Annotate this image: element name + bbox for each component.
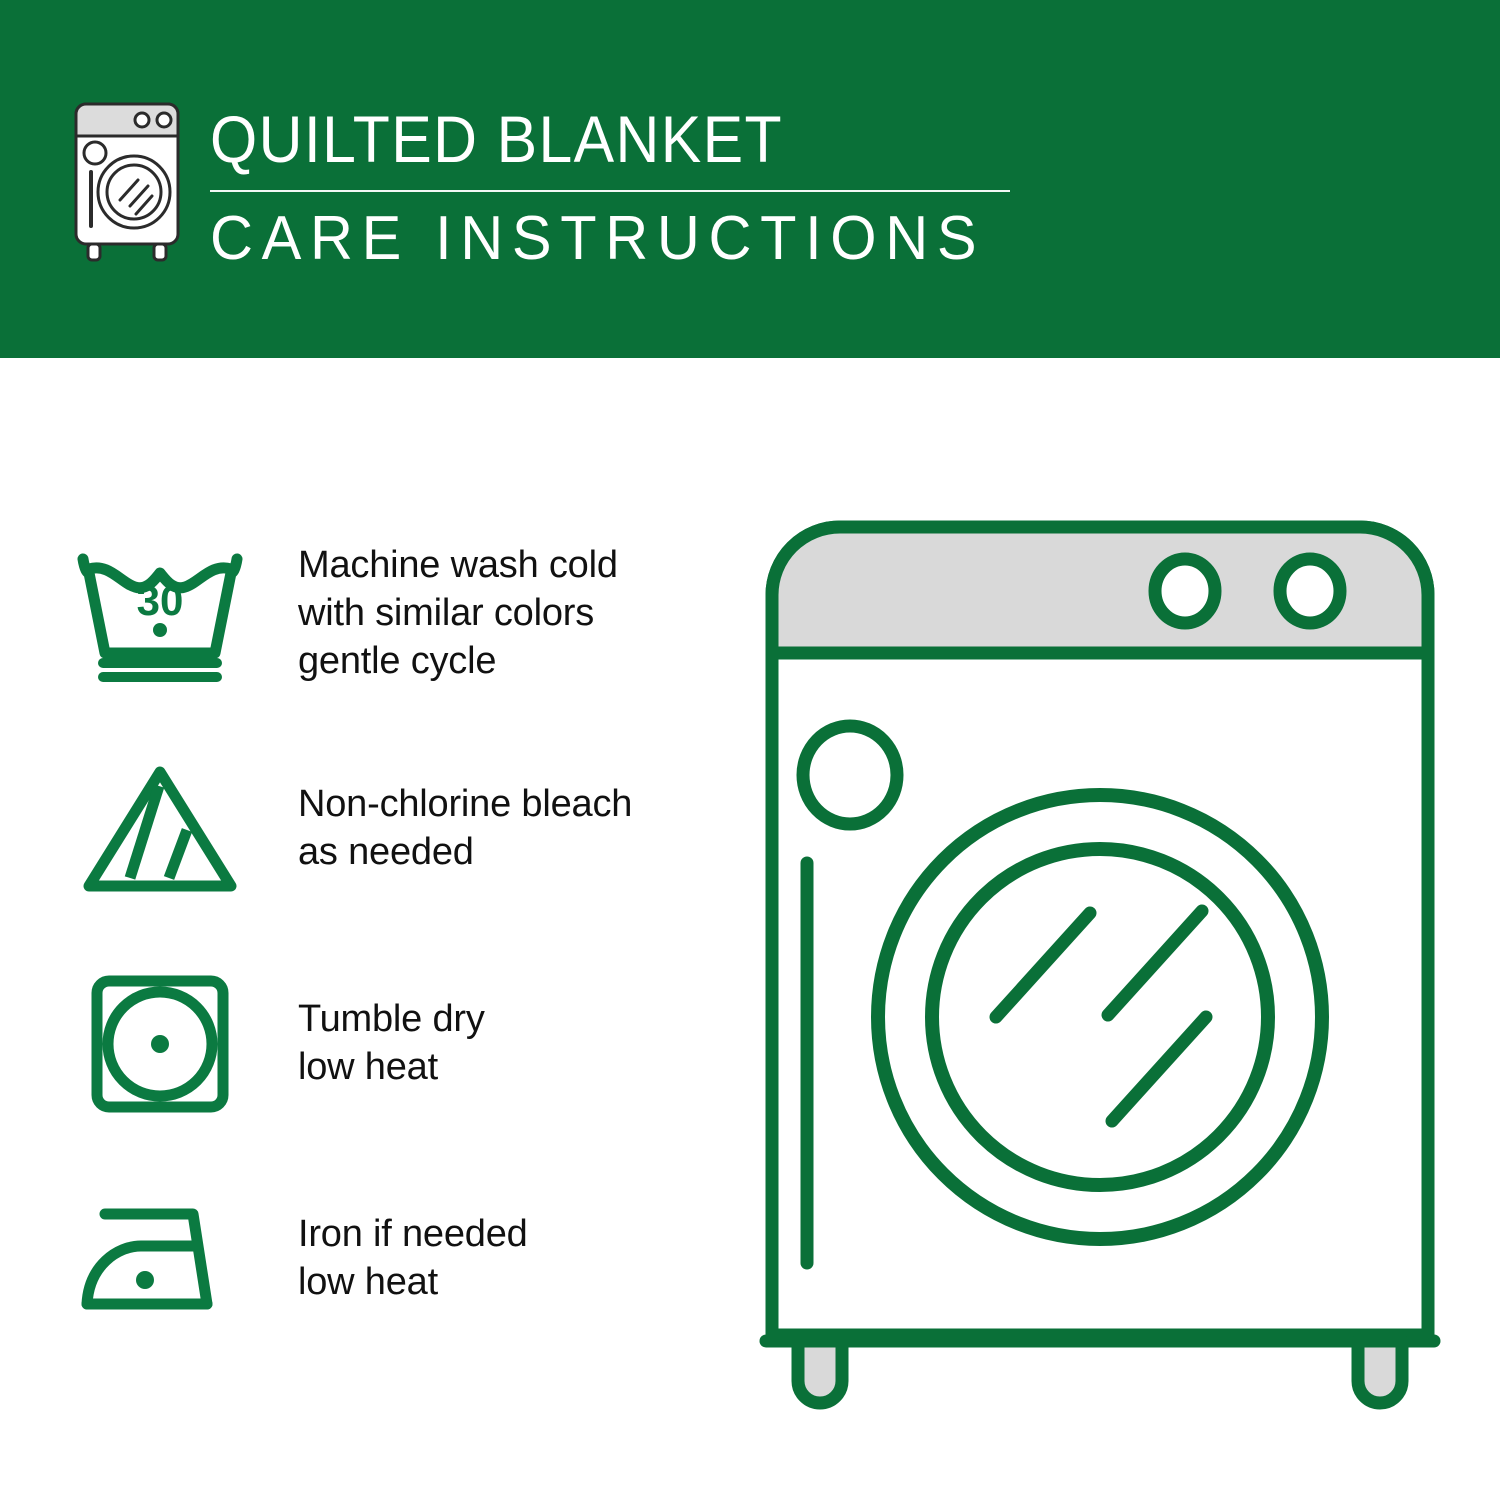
leg-left <box>798 1341 842 1403</box>
wash-temperature-value: 30 <box>137 577 184 624</box>
care-instruction-text: Non-chlorine bleach as needed <box>250 780 710 876</box>
header-banner: QUILTED BLANKET CARE INSTRUCTIONS <box>0 0 1500 358</box>
washing-machine-icon <box>62 96 192 266</box>
care-instructions-list: 30 Machine wash cold with similar colors… <box>70 505 710 1365</box>
care-row: 30 Machine wash cold with similar colors… <box>70 505 710 720</box>
knob-right <box>1280 559 1340 623</box>
care-row: Tumble dry low heat <box>70 935 710 1150</box>
leg-right <box>1358 1341 1402 1403</box>
front-load-washing-machine-illustration <box>740 495 1460 1425</box>
non-chlorine-bleach-triangle-icon <box>70 758 250 898</box>
tumble-dry-low-heat-icon <box>70 973 250 1113</box>
care-instruction-text: Machine wash cold with similar colors ge… <box>250 541 710 685</box>
care-row: Non-chlorine bleach as needed <box>70 720 710 935</box>
detergent-drawer-circle <box>803 726 897 824</box>
care-instruction-text: Tumble dry low heat <box>250 995 710 1091</box>
care-instruction-text: Iron if needed low heat <box>250 1210 710 1306</box>
header-title-group: QUILTED BLANKET CARE INSTRUCTIONS <box>210 96 1017 274</box>
page-title: QUILTED BLANKET <box>210 102 953 176</box>
knob-left <box>1155 559 1215 623</box>
title-divider <box>210 190 1010 192</box>
iron-low-heat-icon <box>70 1188 250 1328</box>
care-row: Iron if needed low heat <box>70 1150 710 1365</box>
header-content: QUILTED BLANKET CARE INSTRUCTIONS <box>62 96 1017 274</box>
wash-tub-30-gentle-icon: 30 <box>70 543 250 683</box>
page-subtitle: CARE INSTRUCTIONS <box>210 204 985 274</box>
